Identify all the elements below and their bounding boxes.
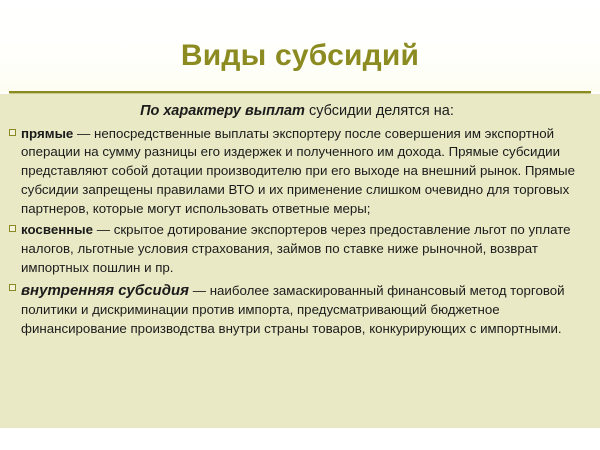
hollow-square-bullet-icon (9, 129, 16, 136)
presentation-slide: Виды субсидий По характеру выплат субсид… (0, 0, 600, 450)
list-item-dash: — (93, 222, 114, 237)
list-item-dash: — (189, 283, 210, 298)
list-item-dash: — (73, 126, 94, 141)
page-title: Виды субсидий (0, 40, 600, 72)
lead-rest: субсидии делятся на: (305, 103, 454, 119)
list-item-term: косвенные (21, 222, 93, 237)
list-item: прямые — непосредственные выплаты экспор… (8, 125, 586, 219)
list-item-term: прямые (21, 126, 73, 141)
lead-emphasis: По характеру выплат (140, 103, 305, 119)
list-item-term: внутренняя субсидия (21, 282, 189, 299)
content-panel: По характеру выплат субсидии делятся на:… (0, 94, 600, 428)
lead-sentence: По характеру выплат субсидии делятся на: (8, 102, 586, 122)
list-item: внутренняя субсидия — наиболее замаскиро… (8, 280, 586, 339)
hollow-square-bullet-icon (9, 284, 16, 291)
bottom-band (0, 428, 600, 450)
hollow-square-bullet-icon (9, 225, 16, 232)
list-item-body: непосредственные выплаты экспортеру посл… (21, 126, 575, 217)
title-band: Виды субсидий (0, 0, 600, 92)
list-item: косвенные — скрытое дотирование экспорте… (8, 221, 586, 278)
subsidy-types-list: прямые — непосредственные выплаты экспор… (8, 125, 586, 339)
